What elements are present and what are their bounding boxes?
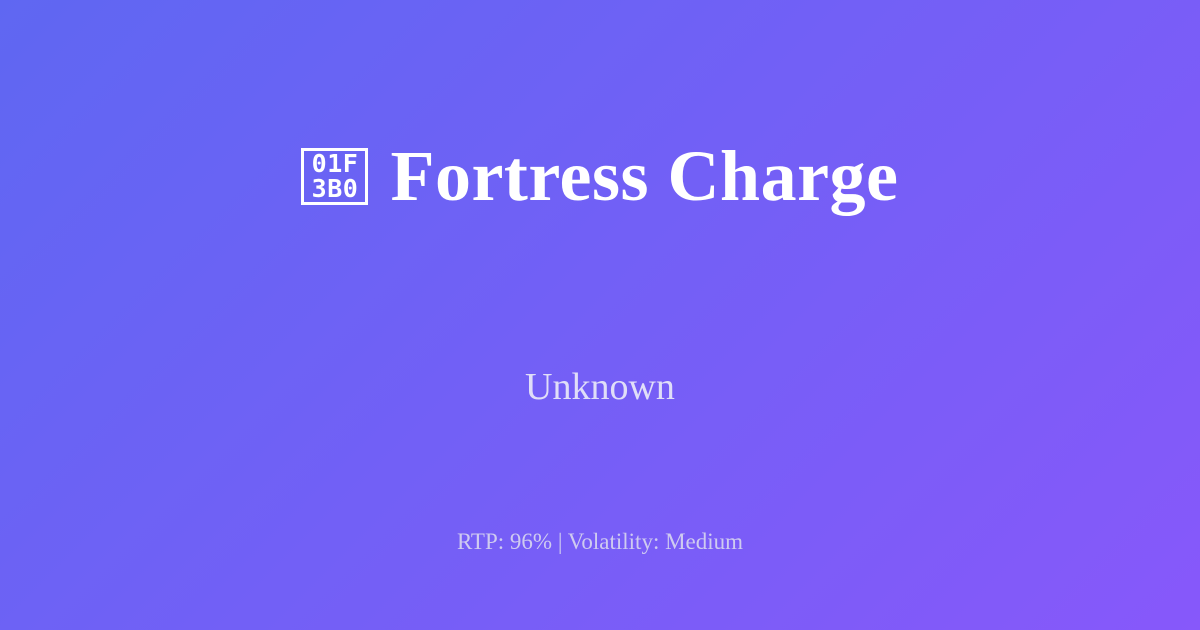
slot-machine-icon-codepoint-bottom: 3B0 <box>312 176 359 201</box>
game-provider-subtitle: Unknown <box>0 362 1200 412</box>
page-title: Fortress Charge <box>390 137 898 215</box>
slot-machine-icon: 01F 3B0 <box>301 148 368 205</box>
game-meta-line: RTP: 96% | Volatility: Medium <box>0 527 1200 557</box>
game-preview-card: 01F 3B0 Fortress Charge Unknown RTP: 96%… <box>0 0 1200 630</box>
slot-machine-icon-codepoint-top: 01F <box>312 151 359 176</box>
title-row: 01F 3B0 Fortress Charge <box>0 0 1200 352</box>
